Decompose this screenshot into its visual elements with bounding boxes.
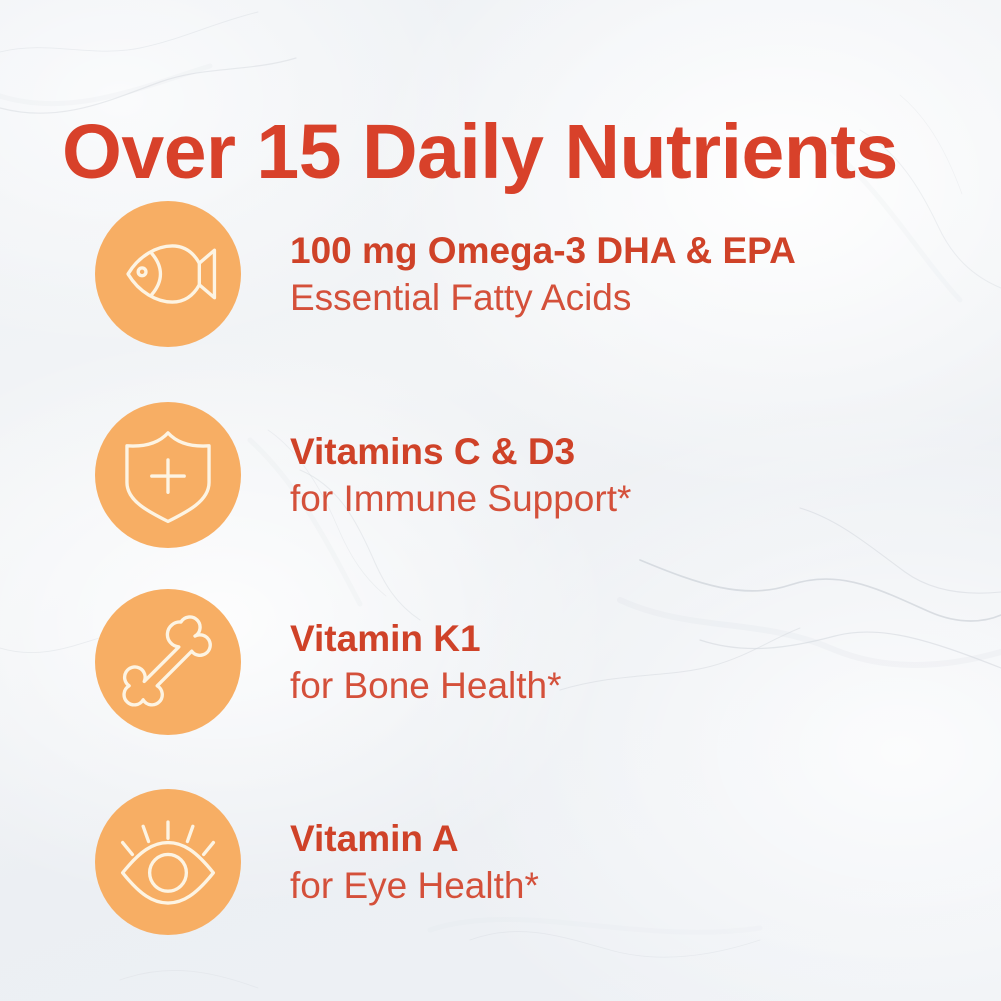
fish-icon xyxy=(114,220,222,328)
feature-text-immune: Vitamins C & D3 for Immune Support* xyxy=(290,428,970,523)
feature-line1: Vitamin K1 xyxy=(290,615,970,662)
shield-plus-icon-badge xyxy=(95,402,241,548)
feature-row-eye: Vitamin A for Eye Health* xyxy=(0,782,1001,942)
feature-line2: for Eye Health* xyxy=(290,862,970,909)
feature-text-eye: Vitamin A for Eye Health* xyxy=(290,815,970,910)
feature-line2: for Bone Health* xyxy=(290,662,970,709)
bone-icon xyxy=(114,608,222,716)
feature-line1: 100 mg Omega-3 DHA & EPA xyxy=(290,227,970,274)
feature-line1: Vitamin A xyxy=(290,815,970,862)
feature-line2: Essential Fatty Acids xyxy=(290,274,970,321)
fish-icon-badge xyxy=(95,201,241,347)
feature-text-bone: Vitamin K1 for Bone Health* xyxy=(290,615,970,710)
eye-icon xyxy=(114,808,222,916)
feature-row-immune: Vitamins C & D3 for Immune Support* xyxy=(0,395,1001,555)
feature-line1: Vitamins C & D3 xyxy=(290,428,970,475)
bone-icon-badge xyxy=(95,589,241,735)
feature-line2: for Immune Support* xyxy=(290,475,970,522)
page-title: Over 15 Daily Nutrients xyxy=(62,114,952,191)
shield-plus-icon xyxy=(114,421,222,529)
feature-row-bone: Vitamin K1 for Bone Health* xyxy=(0,582,1001,742)
nutrient-infographic: Over 15 Daily Nutrients 100 mg Omega-3 D… xyxy=(0,0,1001,1001)
feature-text-omega3: 100 mg Omega-3 DHA & EPA Essential Fatty… xyxy=(290,227,970,322)
feature-row-omega3: 100 mg Omega-3 DHA & EPA Essential Fatty… xyxy=(0,194,1001,354)
eye-icon-badge xyxy=(95,789,241,935)
